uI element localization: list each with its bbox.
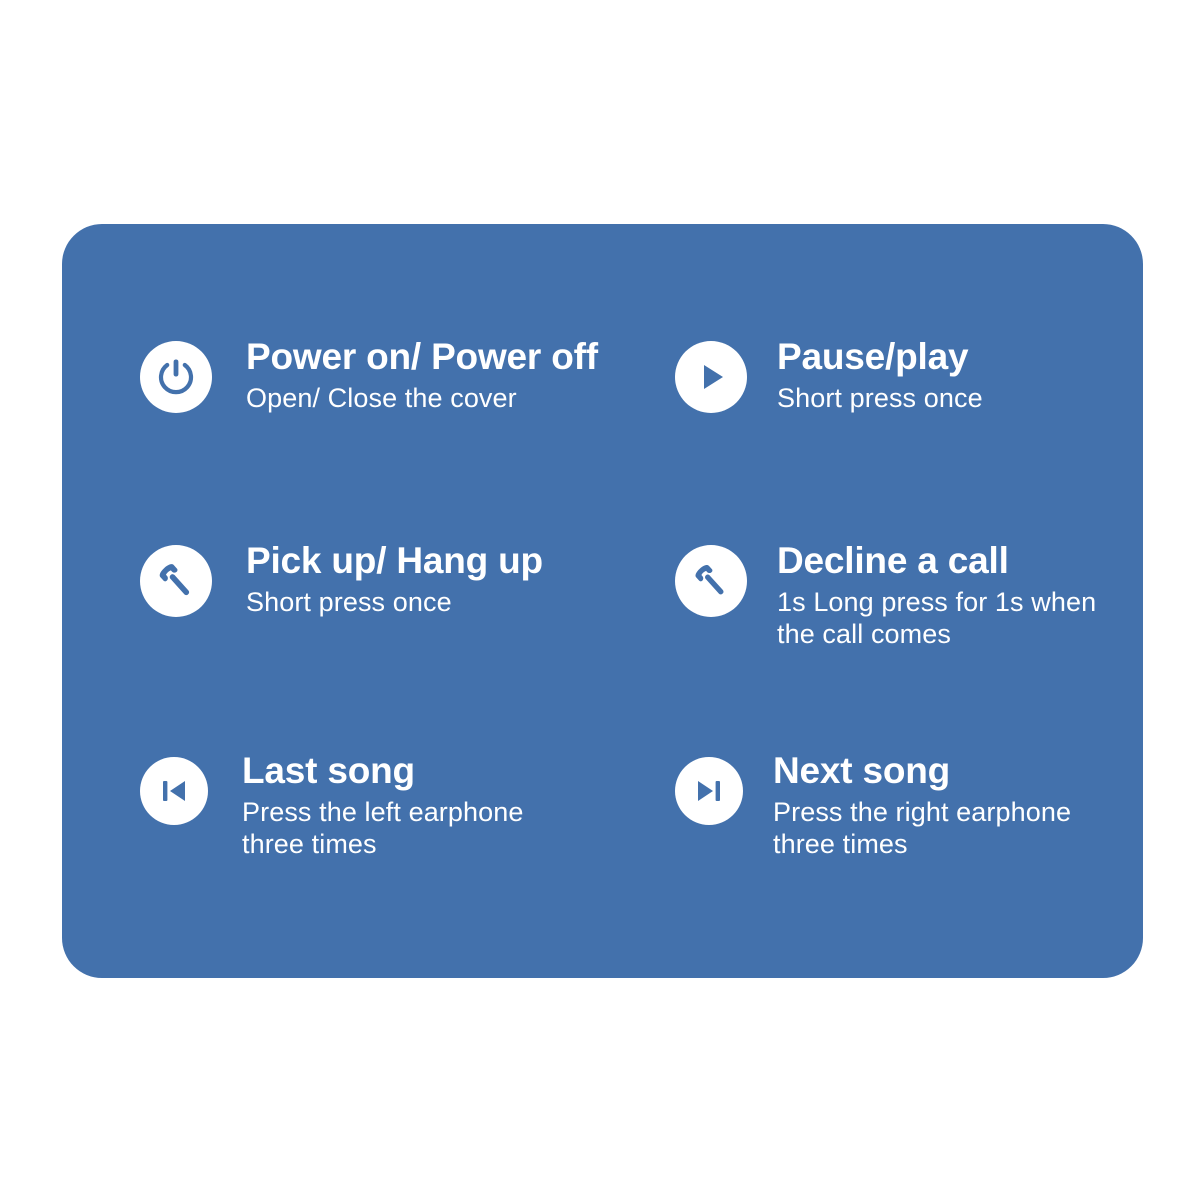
feature-text: Next song Press the right earphone three… — [773, 751, 1103, 860]
feature-grid: Power on/ Power off Open/ Close the cove… — [62, 224, 1143, 978]
feature-text: Pause/play Short press once — [777, 337, 983, 415]
feature-text: Pick up/ Hang up Short press once — [246, 541, 543, 619]
feature-title: Last song — [242, 751, 582, 791]
feature-title: Pause/play — [777, 337, 983, 377]
feature-item-last-song: Last song Press the left earphone three … — [140, 751, 582, 860]
feature-description: Press the left earphone three times — [242, 797, 582, 860]
feature-text: Power on/ Power off Open/ Close the cove… — [246, 337, 598, 415]
phone-handset-icon — [140, 545, 212, 617]
feature-item-next-song: Next song Press the right earphone three… — [675, 751, 1103, 860]
feature-title: Decline a call — [777, 541, 1107, 581]
earphone-controls-card: Power on/ Power off Open/ Close the cove… — [62, 224, 1143, 978]
feature-text: Decline a call 1s Long press for 1s when… — [777, 541, 1107, 650]
feature-item-power: Power on/ Power off Open/ Close the cove… — [140, 337, 598, 415]
feature-description: Open/ Close the cover — [246, 383, 586, 415]
feature-description: Short press once — [246, 587, 543, 619]
feature-text: Last song Press the left earphone three … — [242, 751, 582, 860]
feature-item-pause-play: Pause/play Short press once — [675, 337, 983, 415]
feature-description: Press the right earphone three times — [773, 797, 1103, 860]
feature-item-decline-call: Decline a call 1s Long press for 1s when… — [675, 541, 1107, 650]
power-icon — [140, 341, 212, 413]
feature-description: Short press once — [777, 383, 983, 415]
feature-title: Power on/ Power off — [246, 337, 598, 377]
feature-title: Next song — [773, 751, 1103, 791]
feature-title: Pick up/ Hang up — [246, 541, 543, 581]
skip-previous-icon — [140, 757, 208, 825]
phone-handset-icon — [675, 545, 747, 617]
play-icon — [675, 341, 747, 413]
skip-next-icon — [675, 757, 743, 825]
feature-item-pick-up-hang-up: Pick up/ Hang up Short press once — [140, 541, 543, 619]
feature-description: 1s Long press for 1s when the call comes — [777, 587, 1107, 650]
